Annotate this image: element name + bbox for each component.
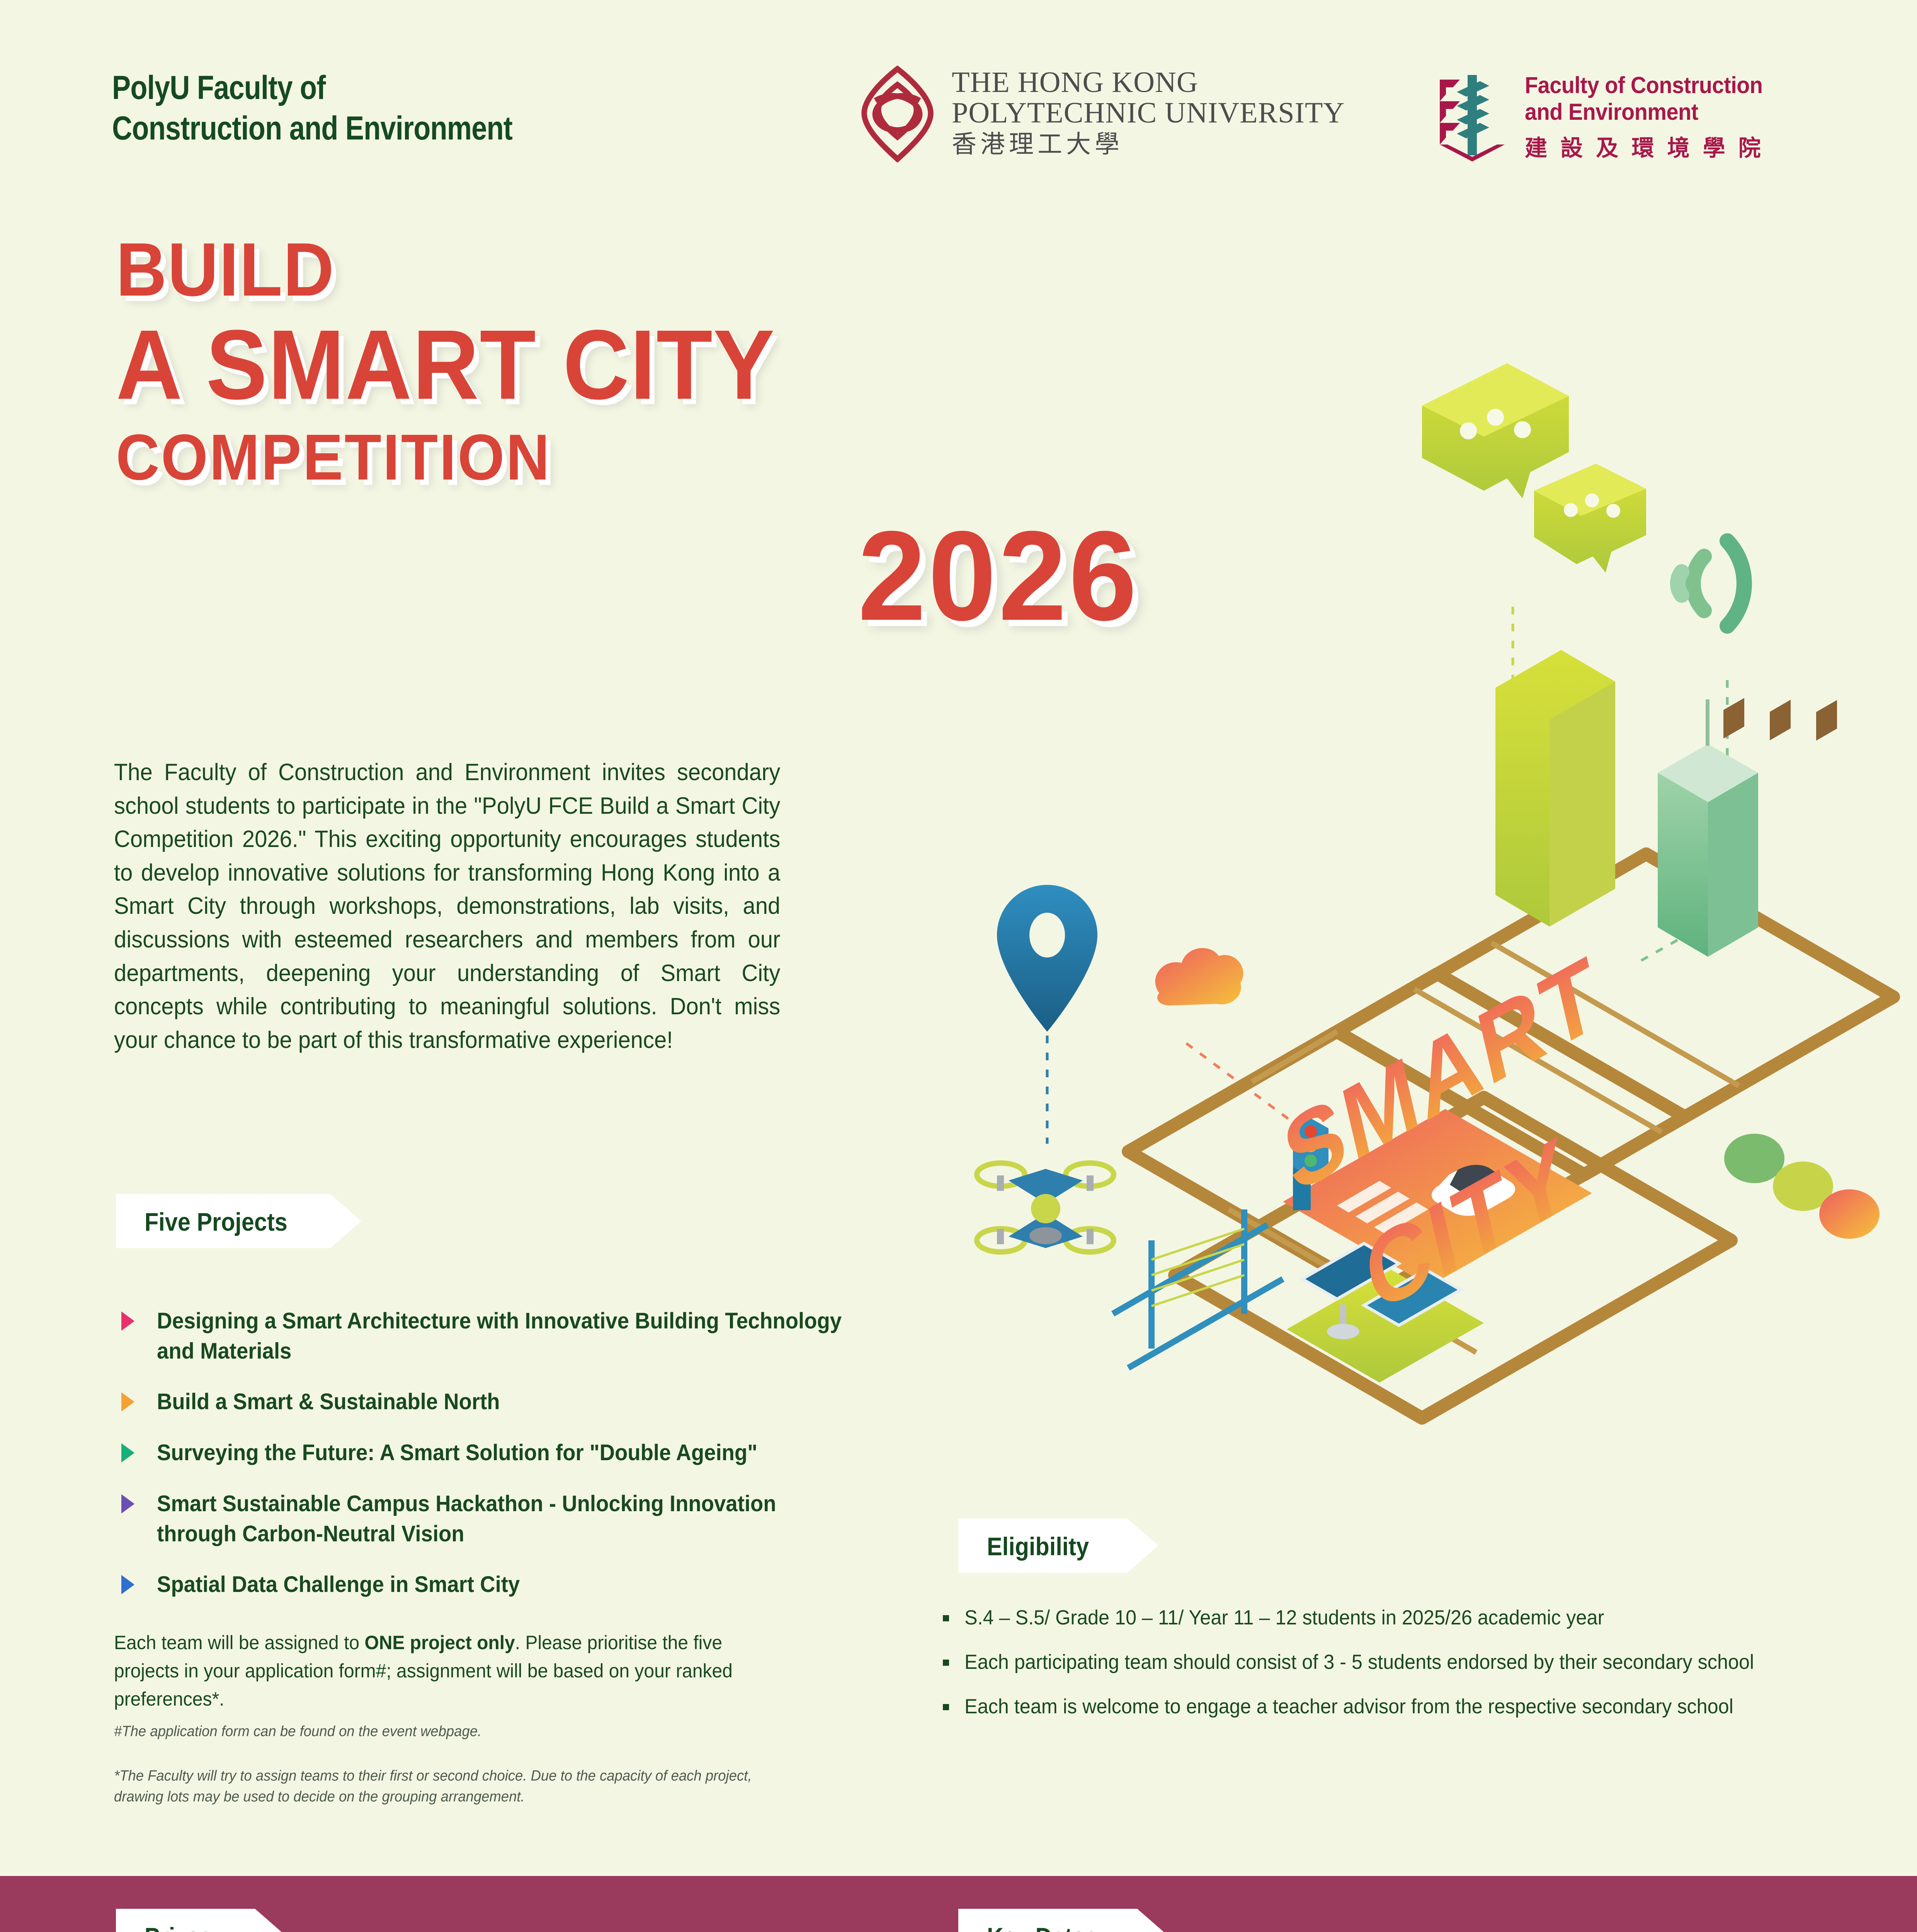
assignment-note-pre: Each team will be assigned to (114, 1632, 364, 1653)
assignment-note: Each team will be assigned to ONE projec… (114, 1629, 786, 1713)
illustration-word-city: CITY (1355, 1114, 1581, 1335)
poster-root: PolyU Faculty of Construction and Enviro… (0, 0, 1917, 1932)
footnote-star: *The Faculty will try to assign teams to… (114, 1766, 789, 1808)
fce-logo: Faculty of Construction and Environment … (1434, 69, 1805, 165)
title-line-build: BUILD (116, 232, 775, 308)
eligibility-item: S.4 – S.5/ Grade 10 – 11/ Year 11 – 12 s… (943, 1604, 1832, 1632)
eligibility-label: Each team is welcome to engage a teacher… (964, 1692, 1733, 1721)
polyu-line1: THE HONG KONG (952, 67, 1345, 98)
footnote-hash: #The application form can be found on th… (114, 1721, 789, 1742)
project-label: Spatial Data Challenge in Smart City (157, 1570, 520, 1600)
eligibility-item: Each participating team should consist o… (943, 1648, 1832, 1676)
faculty-wordmark-line2: Construction and Environment (112, 108, 512, 149)
speech-bubble-small (1534, 464, 1646, 573)
eligibility-heading: Eligibility (987, 1532, 1089, 1561)
assignment-note-bold: ONE project only (364, 1632, 515, 1653)
fce-english: Faculty of Construction and Environment (1525, 72, 1785, 125)
green-tower (1658, 699, 1758, 957)
trees-group (1723, 698, 1880, 1239)
eligibility-label: S.4 – S.5/ Grade 10 – 11/ Year 11 – 12 s… (964, 1604, 1604, 1632)
project-label: Surveying the Future: A Smart Solution f… (157, 1438, 757, 1468)
polyu-logo: THE HONG KONG POLYTECHNIC UNIVERSITY 香港理… (858, 66, 1345, 162)
eligibility-list: S.4 – S.5/ Grade 10 – 11/ Year 11 – 12 s… (943, 1604, 1832, 1737)
poster-title: BUILD A SMART CITY COMPETITION (116, 232, 825, 490)
title-line-asmartcity: A SMART CITY (116, 315, 775, 415)
project-label: Build a Smart & Sustainable North (157, 1387, 500, 1417)
polyu-knot-icon (858, 66, 937, 162)
triangle-bullet-icon (121, 1443, 134, 1463)
wifi-icon (1678, 541, 1744, 626)
five-projects-section: Five Projects (116, 1194, 361, 1248)
prizes-heading: Prizes (145, 1922, 212, 1932)
title-line-competition: COMPETITION (116, 425, 775, 490)
project-item: Spatial Data Challenge in Smart City (116, 1570, 889, 1600)
illustration-word-smart: SMART (1274, 934, 1610, 1215)
faculty-wordmark-line1: PolyU Faculty of (112, 68, 512, 108)
tab-body: Key Dates (958, 1909, 1168, 1932)
polyu-line3: 香港理工大學 (952, 128, 1345, 160)
tab-body: Prizes (116, 1909, 286, 1932)
key-dates-heading: Key Dates (987, 1922, 1098, 1932)
tab-gradient-bar (123, 1247, 353, 1259)
square-bullet-icon (943, 1660, 949, 1666)
five-projects-tab: Five Projects (116, 1194, 361, 1248)
cloud-icon (1155, 948, 1243, 1006)
five-projects-heading: Five Projects (145, 1207, 287, 1236)
fce-emblem-icon (1434, 69, 1511, 165)
eligibility-tab: Eligibility (958, 1519, 1158, 1573)
map-pin-icon (997, 885, 1097, 1032)
city-grid (1128, 854, 1893, 1418)
drone-icon (977, 1163, 1114, 1252)
poster-header: PolyU Faculty of Construction and Enviro… (112, 58, 1805, 182)
intro-paragraph: The Faculty of Construction and Environm… (114, 755, 780, 1056)
eligibility-item: Each team is welcome to engage a teacher… (943, 1692, 1832, 1721)
project-item: Surveying the Future: A Smart Solution f… (116, 1438, 889, 1468)
eligibility-section: Eligibility (958, 1519, 1158, 1573)
fce-chinese: 建 設 及 環 境 學 院 (1525, 130, 1805, 162)
tab-body: Five Projects (116, 1194, 361, 1248)
svg-text:CITY: CITY (1355, 1114, 1581, 1335)
project-item: Build a Smart & Sustainable North (116, 1387, 889, 1417)
triangle-bullet-icon (121, 1311, 134, 1331)
square-bullet-icon (943, 1615, 949, 1621)
five-projects-list: Designing a Smart Architecture with Inno… (116, 1306, 889, 1621)
bridge-icon (1113, 1209, 1283, 1368)
project-item: Designing a Smart Architecture with Inno… (116, 1306, 889, 1366)
speech-bubble-large (1422, 363, 1569, 498)
tall-building-lime (1495, 340, 1615, 927)
tab-body: Eligibility (958, 1519, 1158, 1573)
triangle-bullet-icon (121, 1392, 134, 1412)
prizes-tab: Prizes (116, 1909, 286, 1932)
key-dates-section: Key Dates (958, 1909, 1168, 1932)
fce-logo-text: Faculty of Construction and Environment … (1525, 72, 1805, 162)
faculty-wordmark: PolyU Faculty of Construction and Enviro… (112, 68, 512, 149)
key-dates-tab: Key Dates (958, 1909, 1168, 1932)
polyu-line2: POLYTECHNIC UNIVERSITY (952, 98, 1345, 128)
project-label: Designing a Smart Architecture with Inno… (157, 1306, 845, 1366)
square-bullet-icon (943, 1704, 949, 1710)
prizes-section: Prizes (116, 1909, 286, 1932)
solar-panel (1287, 1243, 1484, 1383)
triangle-bullet-icon (121, 1575, 134, 1594)
car-icon (1432, 1165, 1515, 1216)
tab-gradient-bar (965, 1572, 1150, 1583)
project-item: Smart Sustainable Campus Hackathon - Unl… (116, 1489, 889, 1549)
road-plate (1283, 1109, 1592, 1286)
eligibility-label: Each participating team should consist o… (964, 1648, 1754, 1676)
svg-text:SMART: SMART (1274, 934, 1610, 1215)
traffic-light-icon (1293, 1118, 1328, 1210)
triangle-bullet-icon (121, 1494, 134, 1514)
project-label: Smart Sustainable Campus Hackathon - Unl… (157, 1489, 845, 1549)
polyu-logo-text: THE HONG KONG POLYTECHNIC UNIVERSITY 香港理… (952, 67, 1345, 160)
title-year: 2026 (858, 502, 1139, 649)
